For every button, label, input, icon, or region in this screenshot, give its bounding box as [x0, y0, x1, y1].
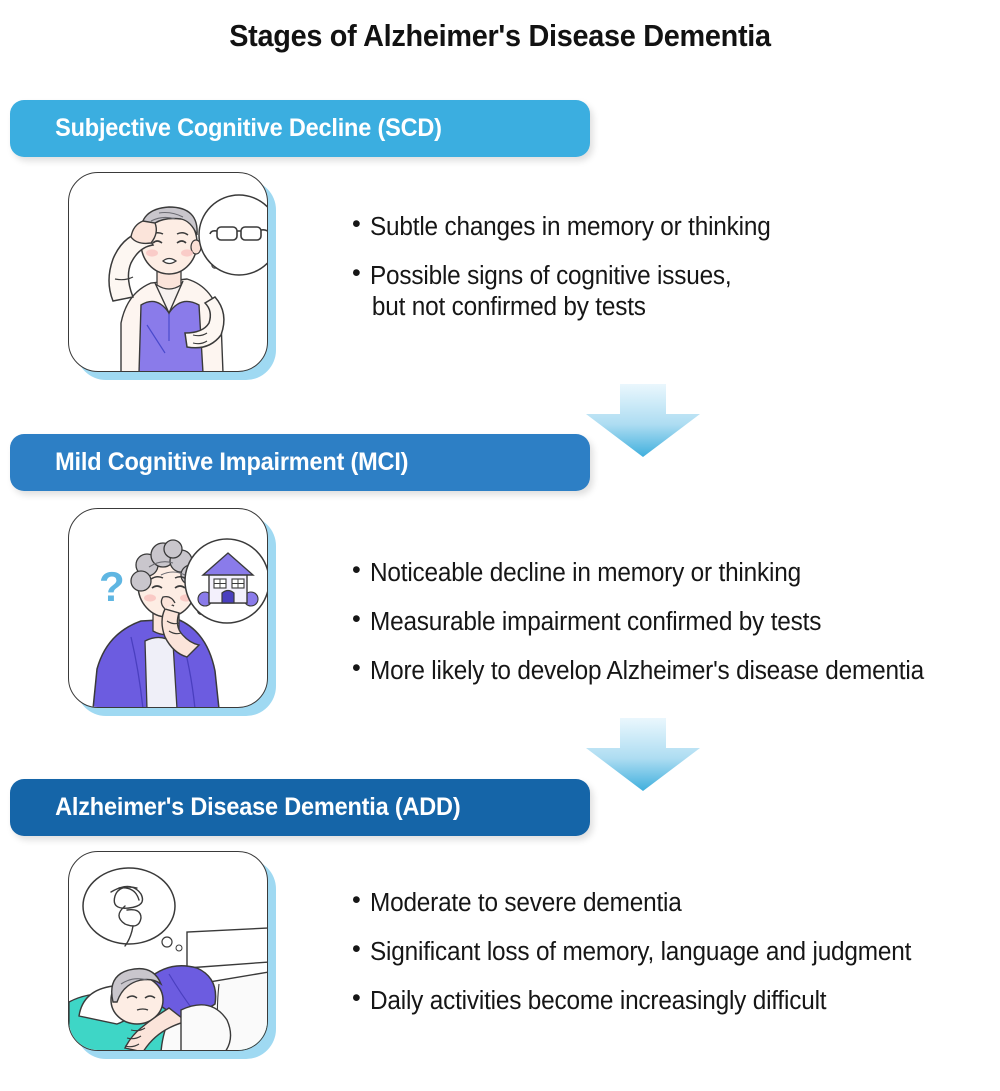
list-item: • More likely to develop Alzheimer's dis… — [352, 656, 950, 687]
stage-header-mci[interactable]: Mild Cognitive Impairment (MCI) — [10, 434, 590, 491]
infographic-root: Stages of Alzheimer's Disease Dementia S… — [0, 0, 1000, 1091]
bullet-text: Noticeable decline in memory or thinking — [370, 559, 801, 587]
bullet-icon: • — [352, 558, 361, 583]
bullets-mci: • Noticeable decline in memory or thinki… — [352, 558, 950, 687]
list-item: • Subtle changes in memory or thinking — [352, 212, 789, 243]
bullets-scd: • Subtle changes in memory or thinking •… — [352, 212, 789, 323]
bullet-text: Significant loss of memory, language and… — [370, 938, 911, 966]
bullet-text: Daily activities become increasingly dif… — [370, 987, 826, 1015]
illustration-scd: ? — [68, 172, 278, 382]
stage-header-add[interactable]: Alzheimer's Disease Dementia (ADD) — [10, 779, 590, 836]
illustration-mci: ? — [68, 508, 278, 718]
arrow-scd-to-mci — [584, 384, 702, 458]
bullet-icon: • — [352, 986, 361, 1011]
stage-header-label-mci: Mild Cognitive Impairment (MCI) — [10, 448, 408, 477]
illustration-card: ? — [68, 172, 268, 372]
page-title: Stages of Alzheimer's Disease Dementia — [35, 18, 965, 54]
stage-header-label-scd: Subjective Cognitive Decline (SCD) — [10, 114, 442, 143]
illustration-add — [68, 851, 278, 1061]
list-item: • Noticeable decline in memory or thinki… — [352, 558, 950, 589]
bullets-add: • Moderate to severe dementia • Signific… — [352, 888, 936, 1017]
list-item: • Moderate to severe dementia — [352, 888, 936, 919]
bullet-text: More likely to develop Alzheimer's disea… — [370, 657, 924, 685]
list-item: • Significant loss of memory, language a… — [352, 937, 936, 968]
list-item: • Daily activities become increasingly d… — [352, 986, 936, 1017]
stage-header-scd[interactable]: Subjective Cognitive Decline (SCD) — [10, 100, 590, 157]
illustration-card: ? — [68, 508, 268, 708]
bullet-icon: • — [352, 607, 361, 632]
arrow-mci-to-add — [584, 718, 702, 792]
bullet-icon: • — [352, 212, 361, 237]
bullet-icon: • — [352, 656, 361, 681]
bullet-text: Subtle changes in memory or thinking — [370, 213, 771, 241]
bullet-icon: • — [352, 888, 361, 913]
list-item: • Possible signs of cognitive issues, bu… — [352, 261, 789, 323]
bullet-text: Moderate to severe dementia — [370, 889, 682, 917]
list-item: • Measurable impairment confirmed by tes… — [352, 607, 950, 638]
bullet-text: Possible signs of cognitive issues, — [370, 262, 731, 290]
svg-text:?: ? — [99, 563, 125, 610]
bullet-icon: • — [352, 937, 361, 962]
bullet-text: Measurable impairment confirmed by tests — [370, 608, 821, 636]
illustration-card — [68, 851, 268, 1051]
stage-header-label-add: Alzheimer's Disease Dementia (ADD) — [10, 793, 460, 822]
bullet-icon: • — [352, 261, 361, 286]
bullet-text-continued: but not confirmed by tests — [370, 292, 731, 323]
